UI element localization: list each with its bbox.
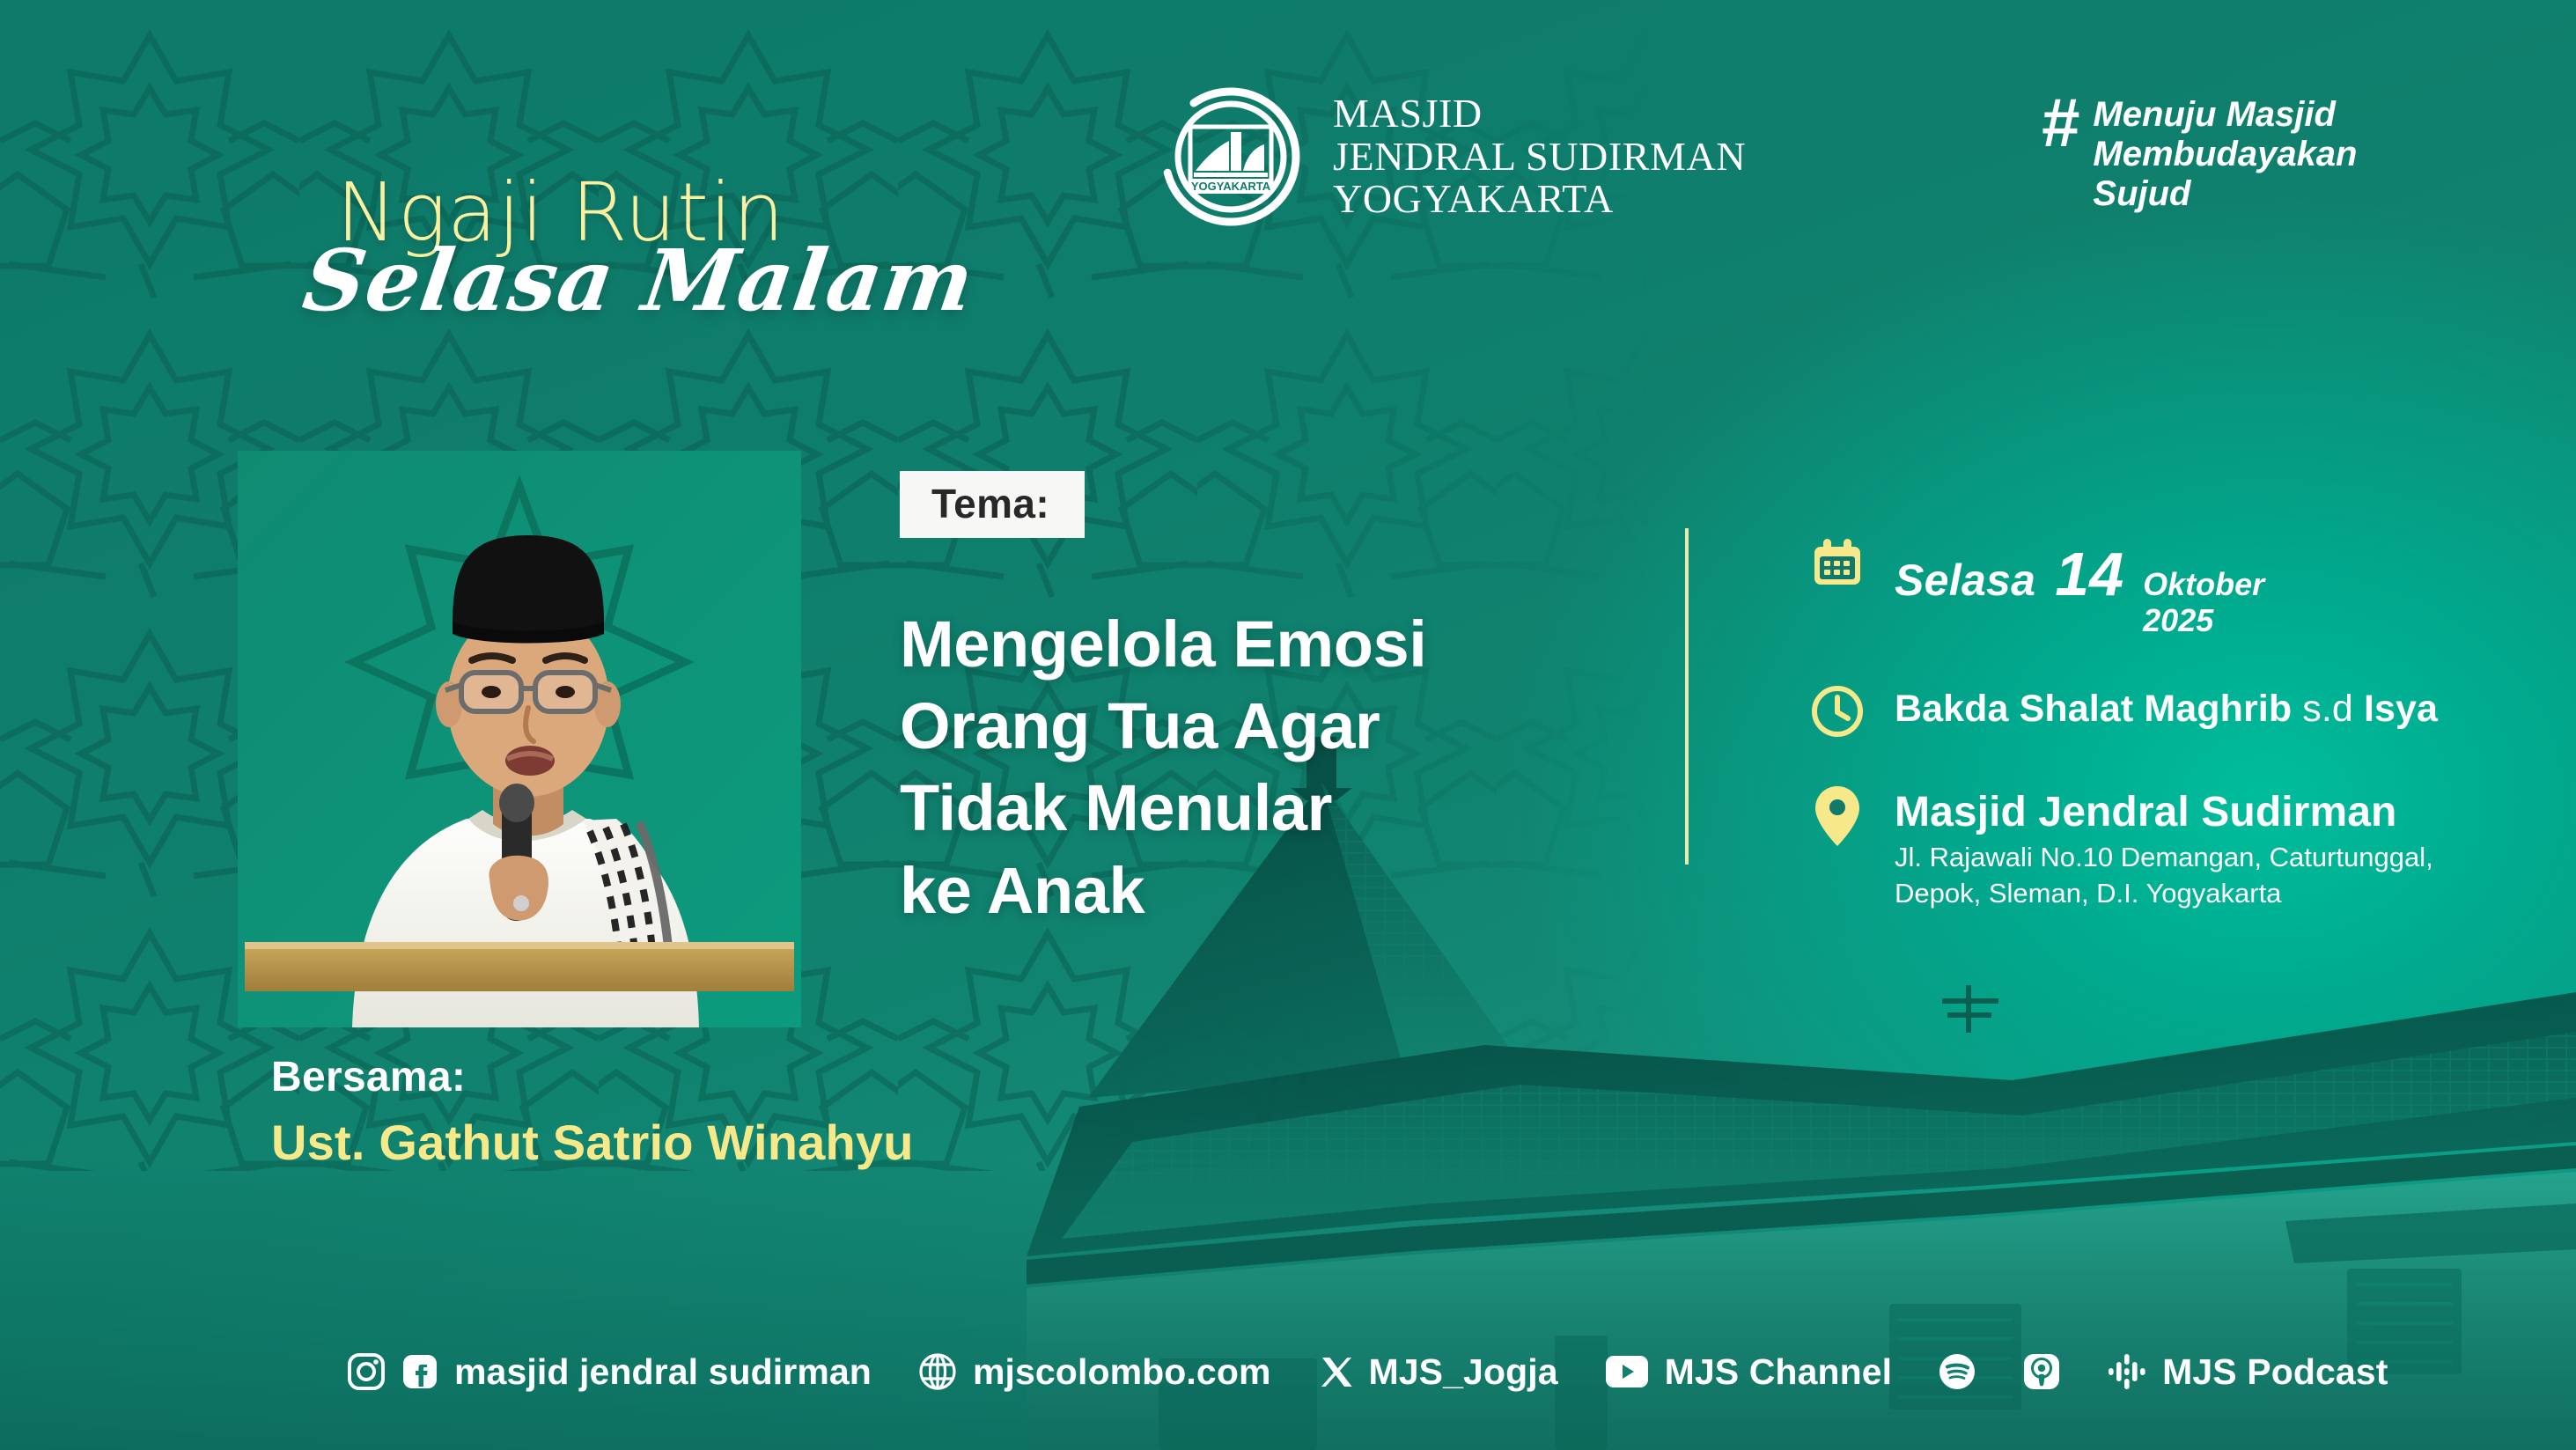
social-label-instagram-facebook: masjid jendral sudirman <box>454 1351 872 1393</box>
hashtag-line-3: Sujud <box>2093 174 2357 214</box>
social-label-youtube: MJS Channel <box>1665 1351 1893 1393</box>
social-label-x-twitter: MJS_Jogja <box>1369 1351 1558 1393</box>
social-item-instagram-facebook[interactable]: masjid jendral sudirman <box>347 1351 872 1393</box>
hashtag-line-1: Menuju Masjid <box>2093 95 2357 135</box>
event-year: 2025 <box>2143 602 2264 638</box>
hashtag-line-2: Membudayakan <box>2093 135 2357 174</box>
event-month: Oktober <box>2143 566 2264 602</box>
masjid-logo-block: YOGYAKARTA MASJID JENDRAL SUDIRMAN YOGYA… <box>1160 86 1746 227</box>
social-item-youtube[interactable]: MJS Channel <box>1604 1351 1893 1393</box>
brand-line-2: JENDRAL SUDIRMAN <box>1333 136 1746 179</box>
brand-line-1: MASJID <box>1333 92 1746 136</box>
globe-icon[interactable] <box>917 1351 958 1392</box>
event-location-body: Masjid Jendral Sudirman Jl. Rajawali No.… <box>1895 784 2433 912</box>
clock-icon <box>1807 684 1868 739</box>
theme-line-4: ke Anak <box>900 850 1426 931</box>
social-item-podcast[interactable]: MJS Podcast <box>1938 1351 2388 1393</box>
event-day-name: Selasa <box>1895 555 2035 606</box>
instagram-icon[interactable] <box>347 1352 386 1391</box>
google-podcast-icon[interactable] <box>2107 1352 2147 1391</box>
venue-address-line-1: Jl. Rajawali No.10 Demangan, Caturtungga… <box>1895 840 2433 876</box>
mosque-circle-logo-icon: YOGYAKARTA <box>1160 86 1301 227</box>
brand-line-3: YOGYAKARTA <box>1333 178 1746 221</box>
vertical-divider <box>1685 528 1689 865</box>
hashtag-text: Menuju Masjid Membudayakan Sujud <box>2093 95 2357 213</box>
theme-title: Mengelola Emosi Orang Tua Agar Tidak Men… <box>900 603 1426 931</box>
with-label: Bersama: <box>271 1053 466 1101</box>
program-subtitle: Selasa Malam <box>298 231 980 330</box>
event-time-part-1: Bakda Shalat Maghrib <box>1895 688 2292 730</box>
theme-line-3: Tidak Menular <box>900 767 1426 849</box>
event-time-separator: s.d <box>2302 688 2353 730</box>
speaker-photo <box>238 451 801 1027</box>
campaign-hashtag: # Menuju Masjid Membudayakan Sujud <box>2041 95 2358 213</box>
venue-address-line-2: Depok, Sleman, D.I. Yogyakarta <box>1895 876 2433 912</box>
location-pin-icon <box>1807 784 1868 848</box>
event-date-body: Selasa 14 Oktober 2025 <box>1895 535 2264 638</box>
social-label-podcast: MJS Podcast <box>2162 1351 2388 1393</box>
x-twitter-icon[interactable] <box>1317 1353 1354 1390</box>
brand-name: MASJID JENDRAL SUDIRMAN YOGYAKARTA <box>1333 92 1746 221</box>
theme-badge: Tema: <box>900 471 1085 538</box>
calendar-icon <box>1807 535 1868 592</box>
social-label-website: mjscolombo.com <box>973 1351 1271 1393</box>
logo-badge-text: YOGYAKARTA <box>1191 180 1271 193</box>
poster-canvas: YOGYAKARTA MASJID JENDRAL SUDIRMAN YOGYA… <box>0 0 2576 1450</box>
facebook-icon[interactable] <box>401 1352 439 1391</box>
event-date-row: Selasa 14 Oktober 2025 <box>1807 535 2546 638</box>
event-details: Selasa 14 Oktober 2025 Bakda Shalat M <box>1807 535 2546 912</box>
theme-line-1: Mengelola Emosi <box>900 603 1426 685</box>
event-month-year: Oktober 2025 <box>2143 566 2264 638</box>
venue-name: Masjid Jendral Sudirman <box>1895 788 2433 836</box>
social-item-website[interactable]: mjscolombo.com <box>917 1351 1271 1393</box>
theme-line-2: Orang Tua Agar <box>900 685 1426 767</box>
apple-podcast-icon[interactable] <box>2022 1352 2061 1391</box>
speaker-name: Ust. Gathut Satrio Winahyu <box>271 1114 914 1171</box>
social-footer: masjid jendral sudirman mjscolombo.com M… <box>0 1329 2576 1414</box>
event-location-row: Masjid Jendral Sudirman Jl. Rajawali No.… <box>1807 784 2546 912</box>
event-day-number: 14 <box>2055 539 2123 609</box>
hash-symbol-icon: # <box>2041 95 2079 151</box>
venue-address: Jl. Rajawali No.10 Demangan, Caturtungga… <box>1895 840 2433 912</box>
event-time-body: Bakda Shalat Maghrib s.d Isya <box>1895 684 2438 731</box>
event-time-part-2: Isya <box>2364 688 2438 730</box>
youtube-icon[interactable] <box>1604 1354 1650 1389</box>
event-time-row: Bakda Shalat Maghrib s.d Isya <box>1807 684 2546 739</box>
social-item-x-twitter[interactable]: MJS_Jogja <box>1317 1351 1558 1393</box>
spotify-icon[interactable] <box>1938 1352 1976 1391</box>
